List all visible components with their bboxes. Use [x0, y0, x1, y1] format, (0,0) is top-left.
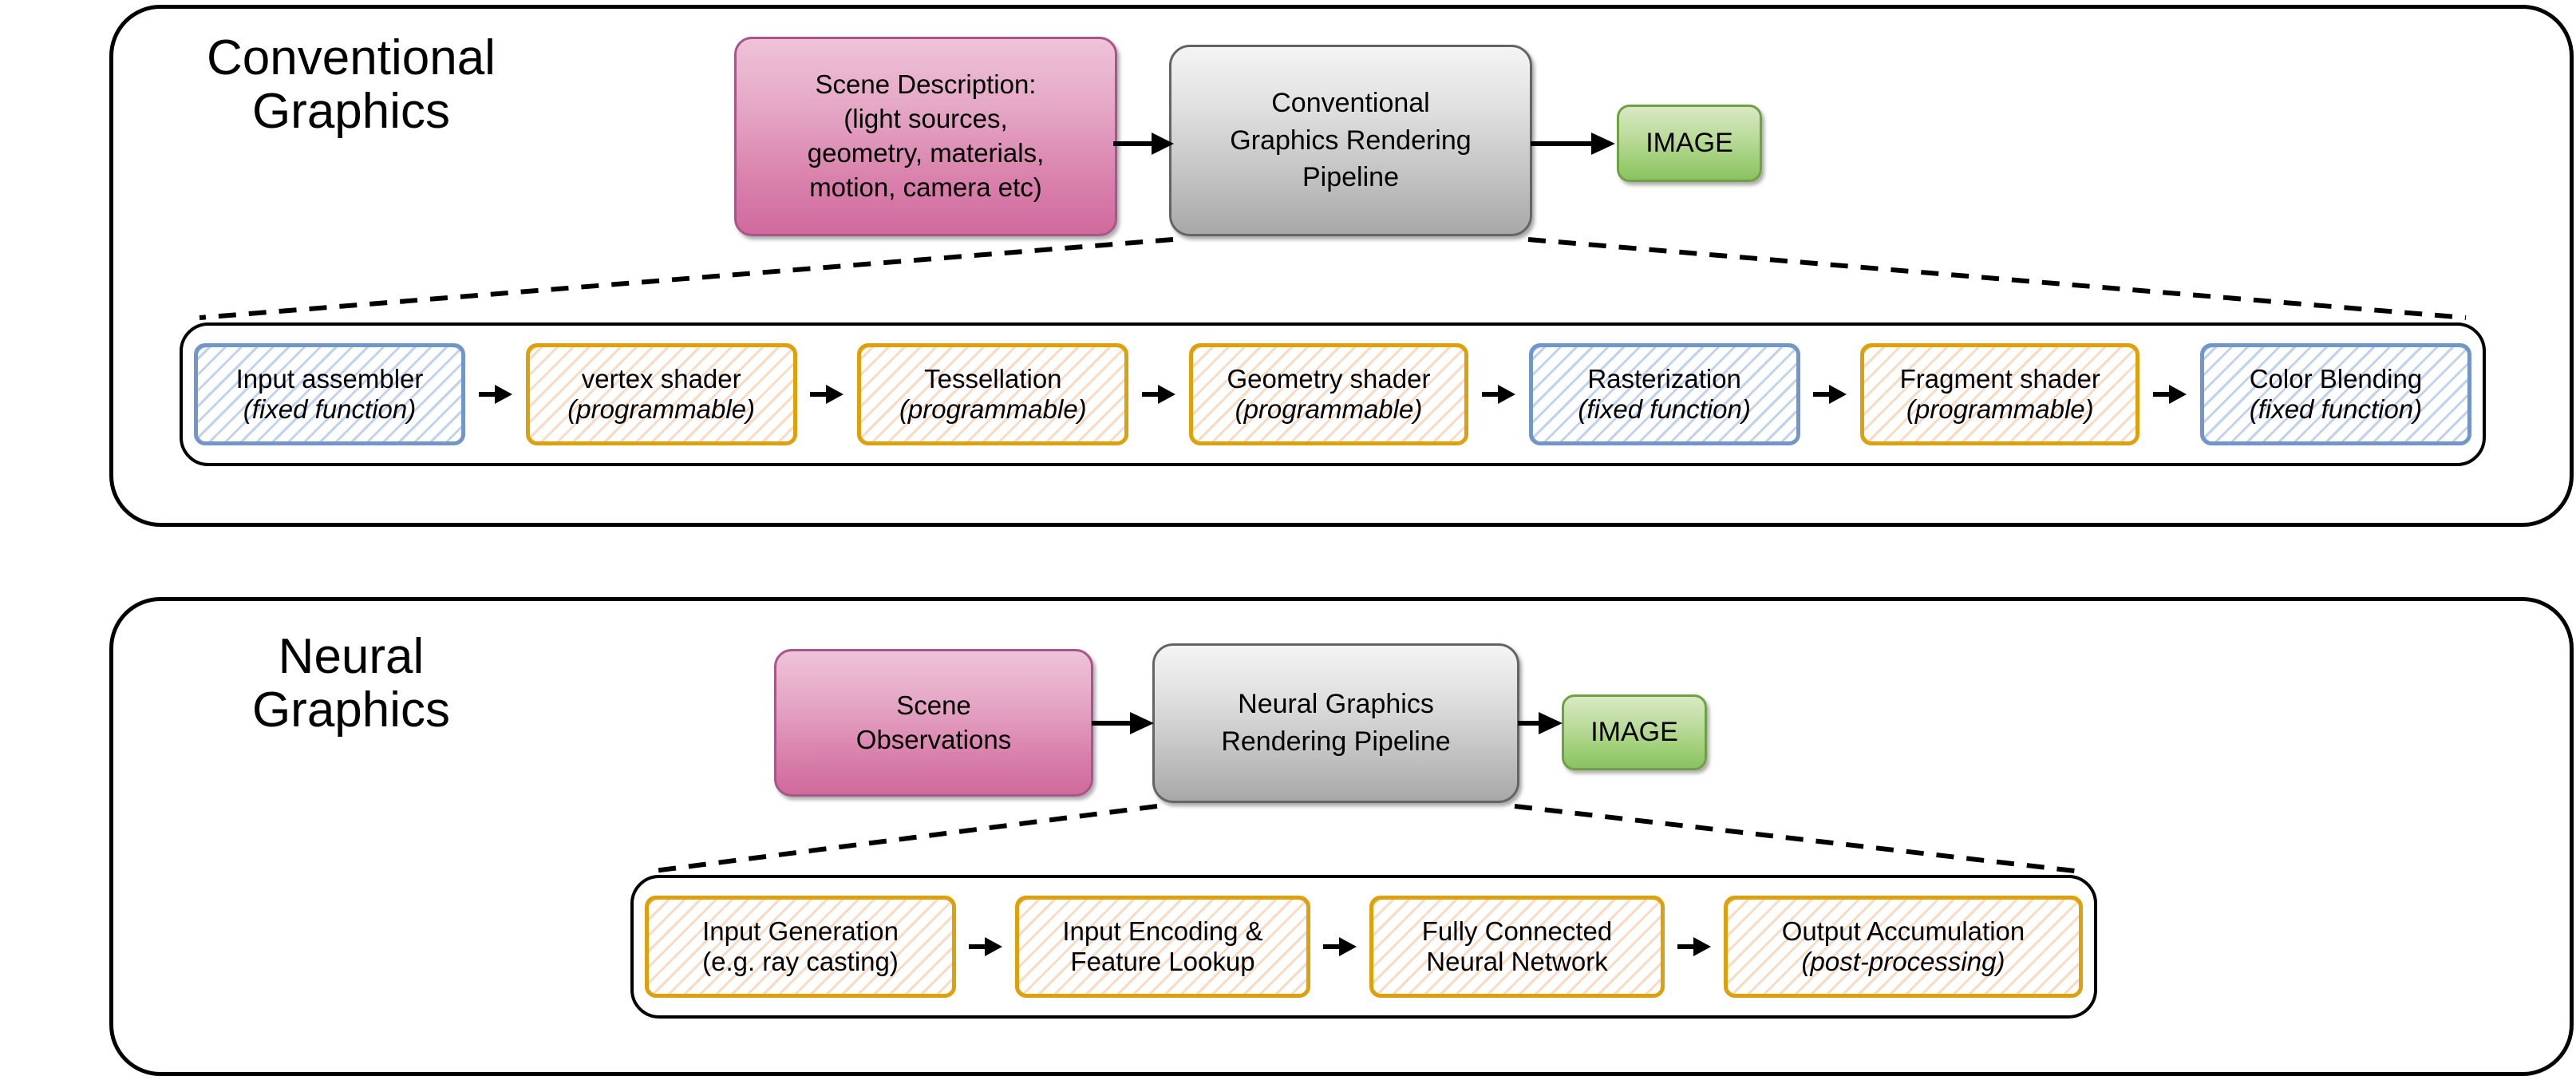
stage-flow-arrow — [2151, 378, 2188, 410]
stage-kind: (programmable) — [567, 394, 755, 425]
pipeline-stage-fragment-shader[interactable]: Fragment shader(programmable) — [1860, 343, 2139, 445]
pipeline-stage-output-accumulation[interactable]: Output Accumulation(post-processing) — [1724, 896, 2083, 998]
leader-lines-conventional — [0, 0, 2576, 559]
stage-name: Color Blending — [2250, 364, 2422, 394]
pipeline-stage-color-blending[interactable]: Color Blending(fixed function) — [2200, 343, 2471, 445]
stage-kind: (fixed function) — [1578, 394, 1750, 425]
pipeline-stage-rasterization[interactable]: Rasterization(fixed function) — [1529, 343, 1800, 445]
pipeline-stage-input-encoding[interactable]: Input Encoding &Feature Lookup — [1015, 896, 1310, 998]
stage-flow-arrow — [1811, 378, 1848, 410]
stage-kind: Feature Lookup — [1070, 947, 1254, 977]
stage-name: Geometry shader — [1227, 364, 1430, 394]
stage-kind: (programmable) — [1235, 394, 1423, 425]
stage-name: Tessellation — [924, 364, 1061, 394]
stage-kind: (fixed function) — [243, 394, 416, 425]
stage-name: Fully Connected — [1422, 916, 1612, 947]
stage-name: Rasterization — [1587, 364, 1741, 394]
stage-flow-arrow — [808, 378, 845, 410]
stage-flow-arrow — [1676, 931, 1713, 963]
stage-kind: Neural Network — [1426, 947, 1607, 977]
stage-flow-arrow — [967, 931, 1004, 963]
stage-flow-arrow — [1480, 378, 1517, 410]
stage-flow-arrow — [1140, 378, 1177, 410]
pipeline-stage-fully-connected[interactable]: Fully ConnectedNeural Network — [1369, 896, 1665, 998]
pipeline-stage-tessellation[interactable]: Tessellation(programmable) — [857, 343, 1128, 445]
stage-kind: (programmable) — [1906, 394, 2094, 425]
stage-name: Input Encoding & — [1062, 916, 1262, 947]
stage-name: Output Accumulation — [1782, 916, 2025, 947]
stage-row-neural: Input Generation(e.g. ray casting)Input … — [634, 878, 2094, 1015]
stage-flow-arrow — [1322, 931, 1358, 963]
pipeline-stage-geometry-shader[interactable]: Geometry shader(programmable) — [1189, 343, 1468, 445]
pipeline-stages-neural: Input Generation(e.g. ray casting)Input … — [630, 875, 2097, 1019]
stage-name: Input Generation — [702, 916, 899, 947]
stage-name: Fragment shader — [1900, 364, 2100, 394]
pipeline-stage-input-generation[interactable]: Input Generation(e.g. ray casting) — [645, 896, 956, 998]
stage-kind: (fixed function) — [2250, 394, 2422, 425]
stage-kind: (e.g. ray casting) — [702, 947, 899, 977]
stage-flow-arrow — [477, 378, 514, 410]
stage-name: Input assembler — [236, 364, 424, 394]
diagram-canvas: Conventional Graphics Scene Description:… — [0, 0, 2576, 1080]
pipeline-stage-vertex-shader[interactable]: vertex shader(programmable) — [526, 343, 797, 445]
pipeline-stage-input-assembler[interactable]: Input assembler(fixed function) — [194, 343, 465, 445]
stage-name: vertex shader — [582, 364, 741, 394]
stage-row-conventional: Input assembler(fixed function)vertex sh… — [183, 326, 2483, 463]
stage-kind: (post-processing) — [1802, 947, 2005, 977]
pipeline-stages-conventional: Input assembler(fixed function)vertex sh… — [180, 322, 2486, 466]
stage-kind: (programmable) — [899, 394, 1087, 425]
